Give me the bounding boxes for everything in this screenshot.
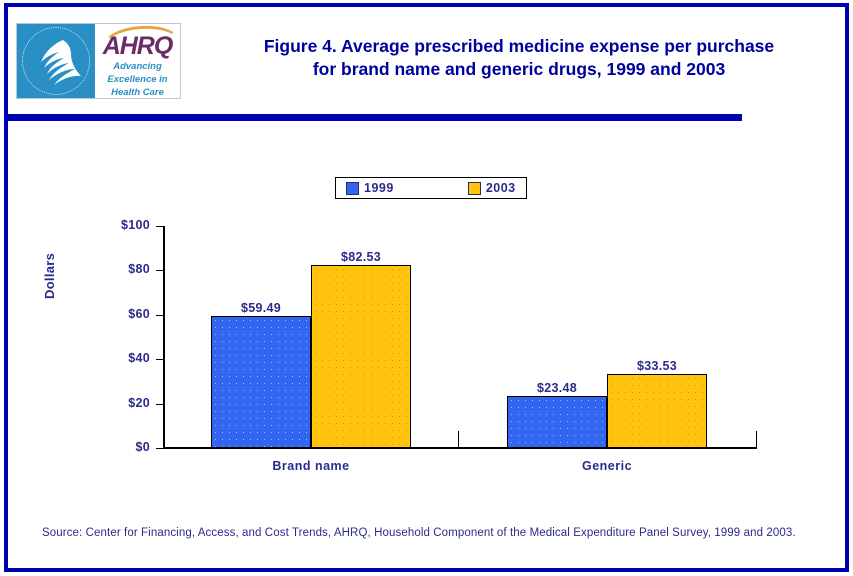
x-axis-category-label: Brand name [231,459,391,473]
x-axis-category-label: Generic [527,459,687,473]
ahrq-wordmark-block: AHRQ Advancing Excellence in Health Care [95,24,180,98]
page-border: AHRQ Advancing Excellence in Health Care… [4,3,849,572]
figure-title: Figure 4. Average prescribed medicine ex… [194,35,844,81]
bar-value-label: $33.53 [607,359,707,373]
bar [507,396,607,448]
figure-header: AHRQ Advancing Excellence in Health Care… [8,7,845,113]
y-axis-tick [156,448,164,449]
ahrq-logo: AHRQ Advancing Excellence in Health Care [16,23,181,99]
ahrq-tagline-line2: Excellence in [95,74,180,85]
ahrq-tagline-line3: Health Care [95,87,180,98]
bar-value-label: $23.48 [507,381,607,395]
bar-value-label: $59.49 [211,301,311,315]
figure-title-line-2: for brand name and generic drugs, 1999 a… [194,58,844,81]
bar [311,265,411,448]
hhs-seal-icon [17,24,95,98]
figure-title-line-1: Figure 4. Average prescribed medicine ex… [194,35,844,58]
source-note: Source: Center for Financing, Access, an… [42,526,822,541]
ahrq-tagline-line1: Advancing [95,61,180,72]
bars-layer [8,121,845,448]
header-divider [8,114,742,121]
bar-value-label: $82.53 [311,250,411,264]
bar [607,374,707,448]
bar [211,316,311,448]
chart-area: 1999 2003 Dollars $100$80$60$40$20$0 Bra… [8,121,845,511]
figure-page: AHRQ Advancing Excellence in Health Care… [0,0,853,576]
plot-region: Dollars $100$80$60$40$20$0 Brand nameGen… [8,121,845,511]
